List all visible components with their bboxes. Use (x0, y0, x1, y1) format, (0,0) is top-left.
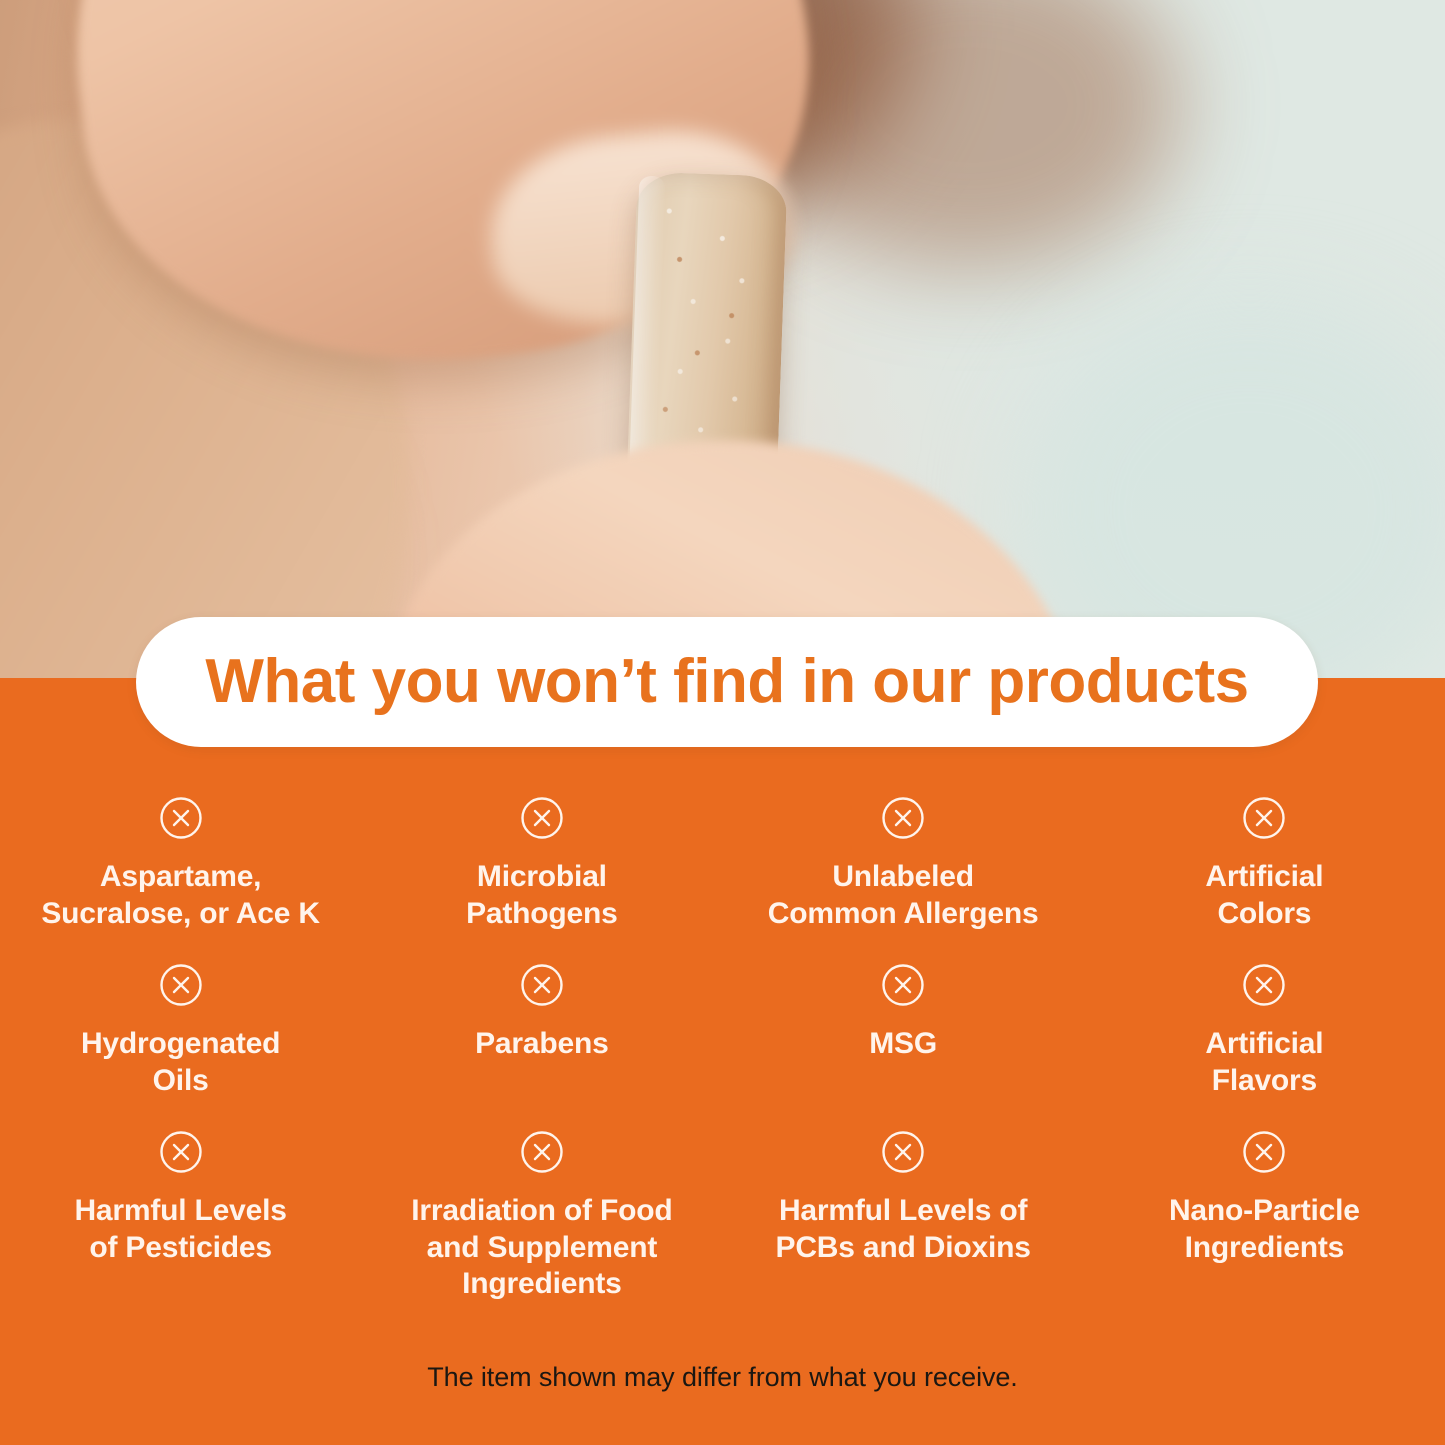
title-part-after: find in our products (656, 647, 1248, 716)
circle-x-icon (159, 1130, 203, 1174)
circle-x-icon (1242, 796, 1286, 840)
grid-item-label: Artificial Colors (1205, 859, 1323, 932)
grid-item-label: Hydrogenated Oils (81, 1026, 280, 1099)
grid-item: Aspartame, Sucralose, or Ace K (0, 790, 361, 957)
grid-item-label: Parabens (475, 1026, 608, 1063)
grid-item: Hydrogenated Oils (0, 957, 361, 1124)
title-part-emphasis: won’t (497, 647, 656, 716)
grid-item-label: Nano-Particle Ingredients (1169, 1193, 1360, 1266)
grid-item-label: Unlabeled Common Allergens (768, 859, 1039, 932)
circle-x-icon (520, 796, 564, 840)
circle-x-icon (159, 796, 203, 840)
grid-item: Harmful Levels of PCBs and Dioxins (723, 1124, 1084, 1291)
title-part-before: What you (205, 647, 497, 716)
circle-x-icon (881, 963, 925, 1007)
page-title: What you won’t find in our products (205, 651, 1248, 713)
circle-x-icon (159, 963, 203, 1007)
hero-photo (0, 0, 1445, 680)
circle-x-icon (1242, 963, 1286, 1007)
grid-item-label: Harmful Levels of PCBs and Dioxins (776, 1193, 1031, 1266)
grid-item: Microbial Pathogens (361, 790, 722, 957)
grid-item: MSG (723, 957, 1084, 1124)
grid-item-label: Irradiation of Food and Supplement Ingre… (411, 1193, 672, 1303)
circle-x-icon (881, 796, 925, 840)
circle-x-icon (520, 963, 564, 1007)
grid-item: Parabens (361, 957, 722, 1124)
grid-item-label: Artificial Flavors (1205, 1026, 1323, 1099)
circle-x-icon (881, 1130, 925, 1174)
grid-item: Artificial Colors (1084, 790, 1445, 957)
grid-item-label: Harmful Levels of Pesticides (74, 1193, 286, 1266)
grid-item-label: Aspartame, Sucralose, or Ace K (41, 859, 320, 932)
grid-item: Artificial Flavors (1084, 957, 1445, 1124)
grid-item: Irradiation of Food and Supplement Ingre… (361, 1124, 722, 1291)
product-claims-infographic: What you won’t find in our products Aspa… (0, 0, 1445, 1445)
grid-item-label: Microbial Pathogens (466, 859, 618, 932)
disclaimer-text: The item shown may differ from what you … (0, 1362, 1445, 1393)
circle-x-icon (1242, 1130, 1286, 1174)
title-pill: What you won’t find in our products (136, 617, 1318, 747)
excluded-ingredients-grid: Aspartame, Sucralose, or Ace K Microbial… (0, 790, 1445, 1291)
grid-item: Nano-Particle Ingredients (1084, 1124, 1445, 1291)
circle-x-icon (520, 1130, 564, 1174)
grid-item-label: MSG (869, 1026, 937, 1063)
grid-item: Harmful Levels of Pesticides (0, 1124, 361, 1291)
grid-item: Unlabeled Common Allergens (723, 790, 1084, 957)
